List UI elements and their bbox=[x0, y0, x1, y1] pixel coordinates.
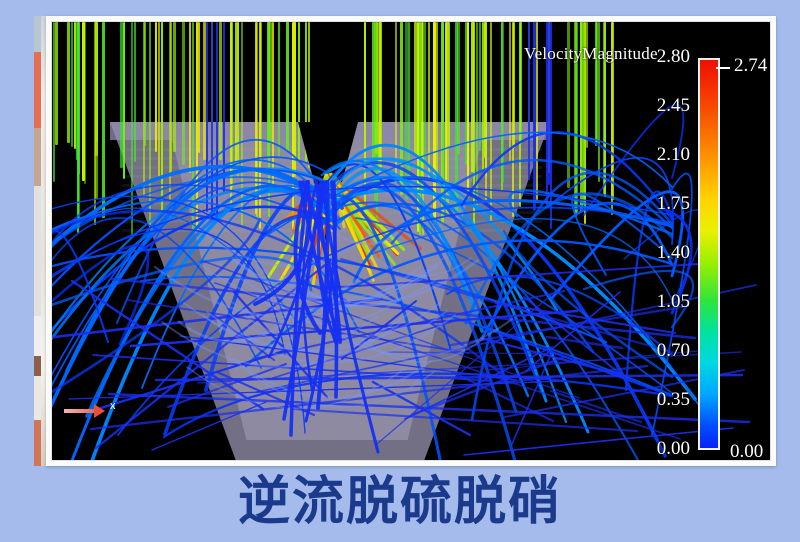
colorbar-tick-1-40: 1.40 bbox=[657, 242, 690, 264]
colorbar-tick-labels: 2.802.452.101.751.401.050.700.350.00 bbox=[612, 52, 690, 452]
colorbar-gradient bbox=[698, 58, 720, 450]
image-frame: x VelocityMagnitude 2.802.452.101.751.40… bbox=[46, 16, 776, 466]
colorbar-tick-2-45: 2.45 bbox=[657, 95, 690, 117]
colorbar-tick-0-00: 0.00 bbox=[657, 438, 690, 460]
colorbar-tick-1-05: 1.05 bbox=[657, 291, 690, 313]
plot-area: x VelocityMagnitude 2.802.452.101.751.40… bbox=[51, 21, 771, 461]
x-axis-label: x bbox=[110, 400, 116, 412]
colorbar-tick-2-80: 2.80 bbox=[657, 46, 690, 68]
screenshot-root: x VelocityMagnitude 2.802.452.101.751.40… bbox=[0, 0, 800, 542]
streamline-arc bbox=[52, 215, 101, 407]
axis-indicator: x bbox=[64, 400, 124, 422]
colorbar-min-annotation: 0.00 bbox=[730, 441, 763, 460]
colorbar-tick-0-70: 0.70 bbox=[657, 340, 690, 362]
colorbar-tick-1-75: 1.75 bbox=[657, 193, 690, 215]
colorbar-max-annotation: 2.74 bbox=[734, 55, 767, 77]
colorbar-tick-0-35: 0.35 bbox=[657, 389, 690, 411]
colorbar-tick-2-10: 2.10 bbox=[657, 144, 690, 166]
x-axis-arrow-shaft bbox=[64, 409, 98, 413]
streamline-arc bbox=[112, 279, 695, 338]
streamline-arc bbox=[294, 409, 637, 431]
cfd-scene: x VelocityMagnitude 2.802.452.101.751.40… bbox=[52, 22, 770, 460]
x-axis-arrow-head bbox=[94, 404, 105, 418]
streamline-arc bbox=[464, 428, 733, 455]
colorbar-max-tickmark bbox=[716, 67, 730, 69]
figure-caption: 逆流脱硫脱硝 bbox=[0, 472, 800, 532]
